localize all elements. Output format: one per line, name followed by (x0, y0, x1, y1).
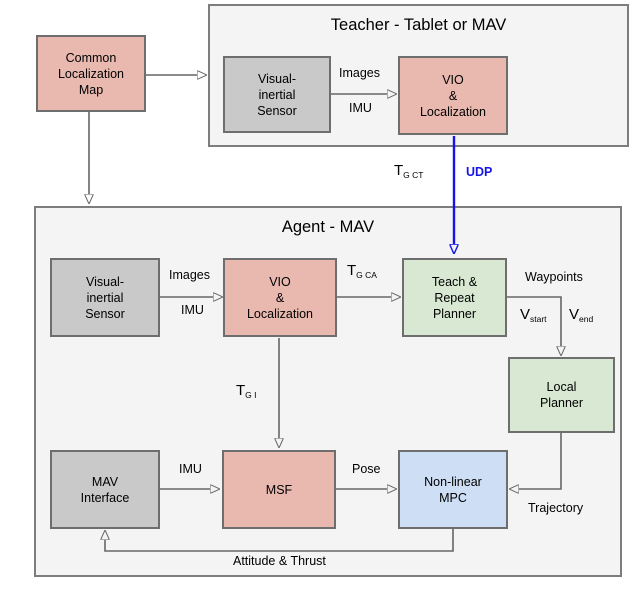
edge-label-t-g-i: TG I (236, 382, 257, 399)
node-mav-interface[interactable]: MAV Interface (50, 450, 160, 529)
agent-container-title: Agent - MAV (36, 218, 620, 237)
transform-symbol: T (394, 162, 403, 179)
edge-label-udp: UDP (466, 165, 492, 179)
edge-label-pose: Pose (352, 462, 381, 476)
node-teacher-vio-localization[interactable]: VIO & Localization (398, 56, 508, 135)
node-label: MAV Interface (81, 474, 130, 506)
node-label: Non-linear MPC (424, 474, 482, 506)
edge-label-v-end: Vend (569, 306, 593, 323)
transform-subscript: G CT (403, 170, 423, 180)
velocity-symbol: V (569, 306, 579, 323)
diagram-canvas: Teacher - Tablet or MAV Agent - MAV (0, 0, 640, 613)
node-nonlinear-mpc[interactable]: Non-linear MPC (398, 450, 508, 529)
edge-label-t-g-ct: TG CT (394, 162, 423, 179)
velocity-symbol: V (520, 306, 530, 323)
velocity-subscript: start (530, 314, 547, 324)
node-common-localization-map[interactable]: Common Localization Map (36, 35, 146, 112)
edge-label-waypoints: Waypoints (525, 270, 583, 284)
node-label: Visual- inertial Sensor (257, 71, 297, 119)
velocity-subscript: end (579, 314, 593, 324)
node-label: Visual- inertial Sensor (85, 274, 125, 322)
edge-label-teacher-images: Images (339, 66, 380, 80)
edge-label-trajectory: Trajectory (528, 501, 583, 515)
teacher-container-title: Teacher - Tablet or MAV (210, 16, 627, 35)
edge-label-agent-imu: IMU (181, 303, 204, 317)
edge-label-mav-imu: IMU (179, 462, 202, 476)
node-label: Common Localization Map (58, 50, 124, 98)
node-teach-repeat-planner[interactable]: Teach & Repeat Planner (402, 258, 507, 337)
transform-subscript: G CA (356, 270, 377, 280)
edge-label-v-start: Vstart (520, 306, 547, 323)
node-local-planner[interactable]: Local Planner (508, 357, 615, 433)
node-msf[interactable]: MSF (222, 450, 336, 529)
edge-label-t-g-ca: TG CA (347, 262, 377, 279)
node-label: VIO & Localization (420, 72, 486, 120)
node-label: Local Planner (540, 379, 583, 411)
node-agent-visual-inertial-sensor[interactable]: Visual- inertial Sensor (50, 258, 160, 337)
transform-symbol: T (236, 382, 245, 399)
node-label: MSF (266, 482, 292, 498)
transform-symbol: T (347, 262, 356, 279)
node-label: VIO & Localization (247, 274, 313, 322)
node-agent-vio-localization[interactable]: VIO & Localization (223, 258, 337, 337)
edge-label-attitude-thrust: Attitude & Thrust (233, 554, 326, 568)
node-teacher-visual-inertial-sensor[interactable]: Visual- inertial Sensor (223, 56, 331, 133)
transform-subscript: G I (245, 390, 256, 400)
node-label: Teach & Repeat Planner (432, 274, 477, 322)
edge-label-teacher-imu: IMU (349, 101, 372, 115)
edge-label-agent-images: Images (169, 268, 210, 282)
